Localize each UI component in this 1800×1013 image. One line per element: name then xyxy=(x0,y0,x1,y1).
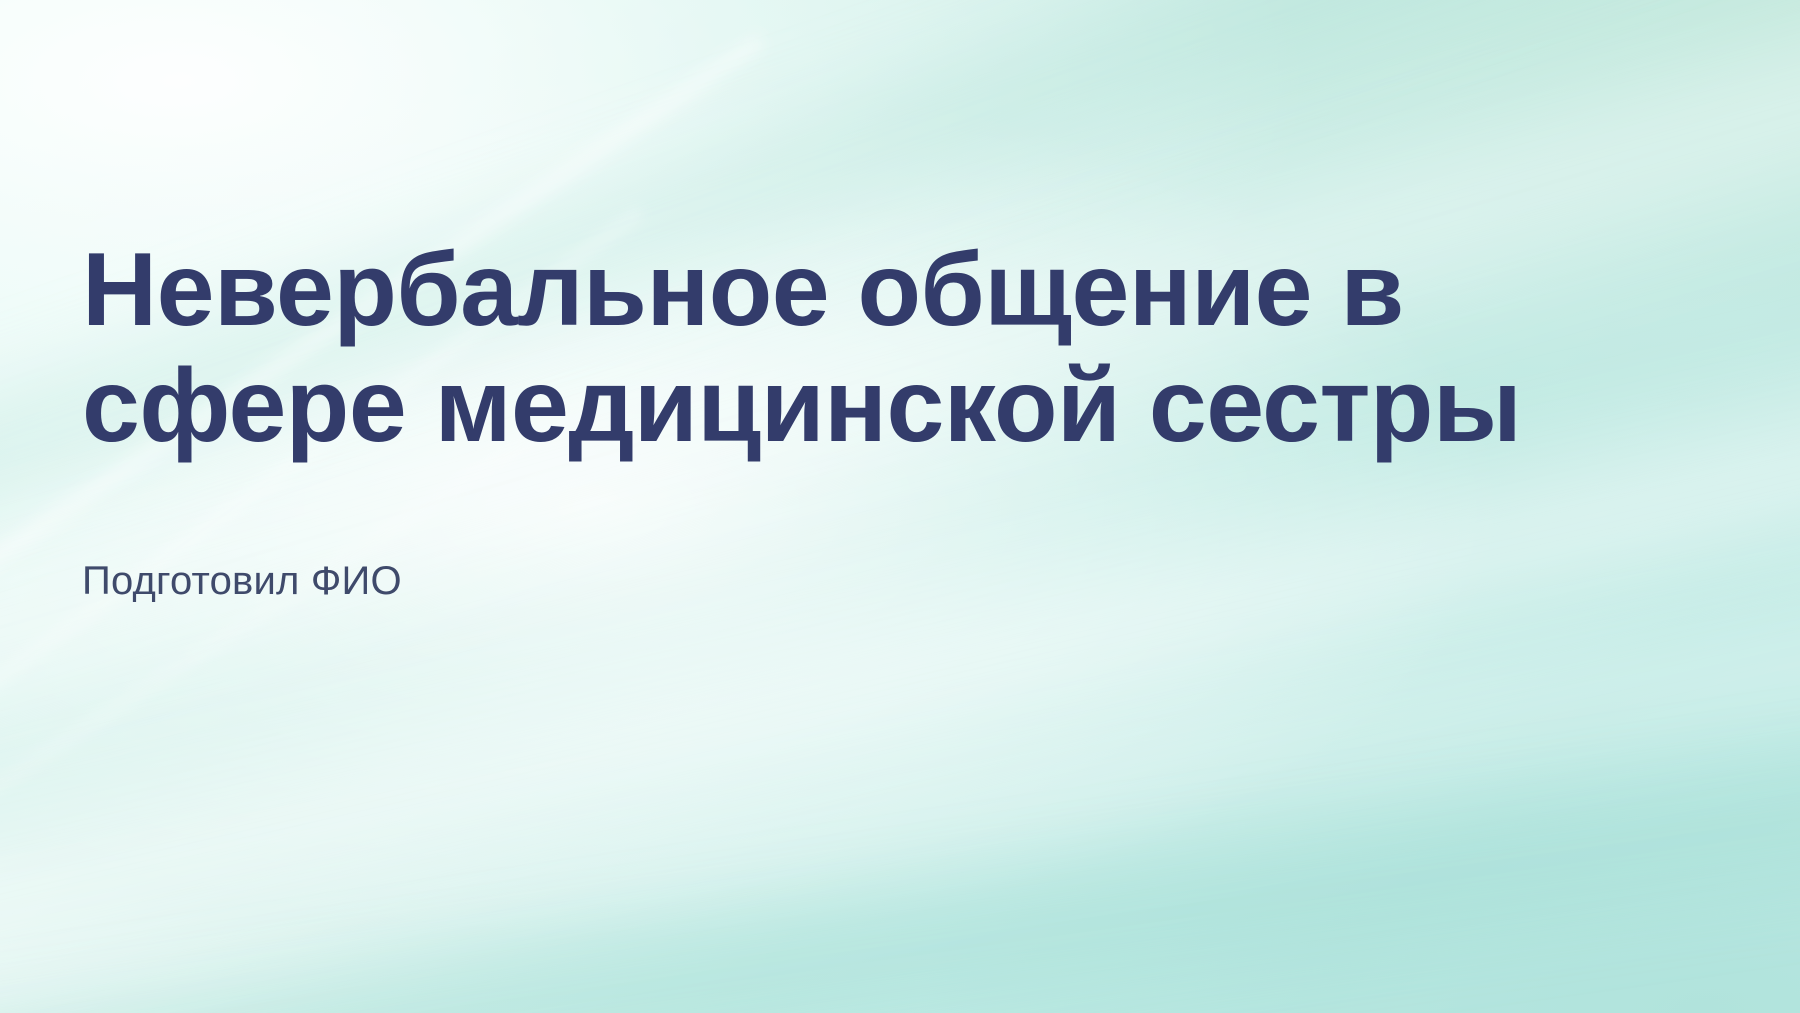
background-wave-band-bottom xyxy=(0,664,1800,1013)
slide-content: Невербальное общение в сфере медицинской… xyxy=(82,232,1682,605)
slide-title: Невербальное общение в сфере медицинской… xyxy=(82,232,1657,465)
title-slide: Невербальное общение в сфере медицинской… xyxy=(0,0,1800,1013)
slide-subtitle-author: Подготовил ФИО xyxy=(82,465,1682,605)
